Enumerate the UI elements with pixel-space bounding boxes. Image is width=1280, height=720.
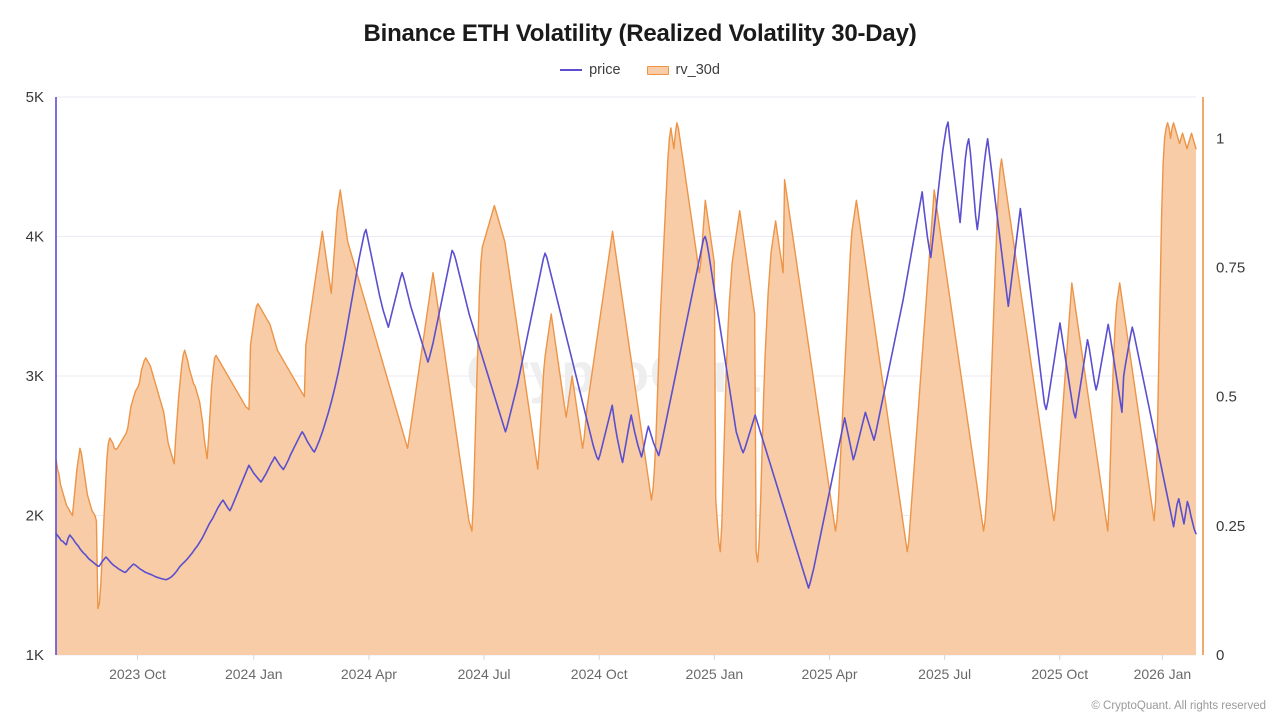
svg-text:2025 Jul: 2025 Jul: [918, 666, 971, 682]
svg-text:0.25: 0.25: [1216, 518, 1245, 535]
svg-text:1: 1: [1216, 130, 1224, 147]
svg-text:5K: 5K: [26, 89, 44, 106]
svg-text:0.75: 0.75: [1216, 260, 1245, 277]
svg-text:2024 Jul: 2024 Jul: [458, 666, 511, 682]
svg-text:2025 Jan: 2025 Jan: [686, 666, 744, 682]
svg-text:2K: 2K: [26, 508, 44, 525]
svg-text:3K: 3K: [26, 368, 44, 385]
chart-container: Binance ETH Volatility (Realized Volatil…: [0, 0, 1280, 720]
copyright-footer: © CryptoQuant. All rights reserved: [1091, 700, 1266, 712]
svg-text:2024 Jan: 2024 Jan: [225, 666, 283, 682]
svg-text:2025 Oct: 2025 Oct: [1031, 666, 1088, 682]
svg-text:2024 Oct: 2024 Oct: [571, 666, 628, 682]
svg-text:2026 Jan: 2026 Jan: [1134, 666, 1192, 682]
svg-text:0: 0: [1216, 647, 1224, 664]
svg-text:2024 Apr: 2024 Apr: [341, 666, 397, 682]
svg-text:2023 Oct: 2023 Oct: [109, 666, 166, 682]
svg-text:0.5: 0.5: [1216, 389, 1237, 406]
svg-text:4K: 4K: [26, 229, 44, 246]
plot-svg: 5K4K3K2K1K10.750.50.2502023 Oct2024 Jan2…: [0, 0, 1280, 720]
rv30d-area-series: [56, 123, 1196, 655]
svg-text:2025 Apr: 2025 Apr: [801, 666, 857, 682]
svg-text:1K: 1K: [26, 647, 44, 664]
